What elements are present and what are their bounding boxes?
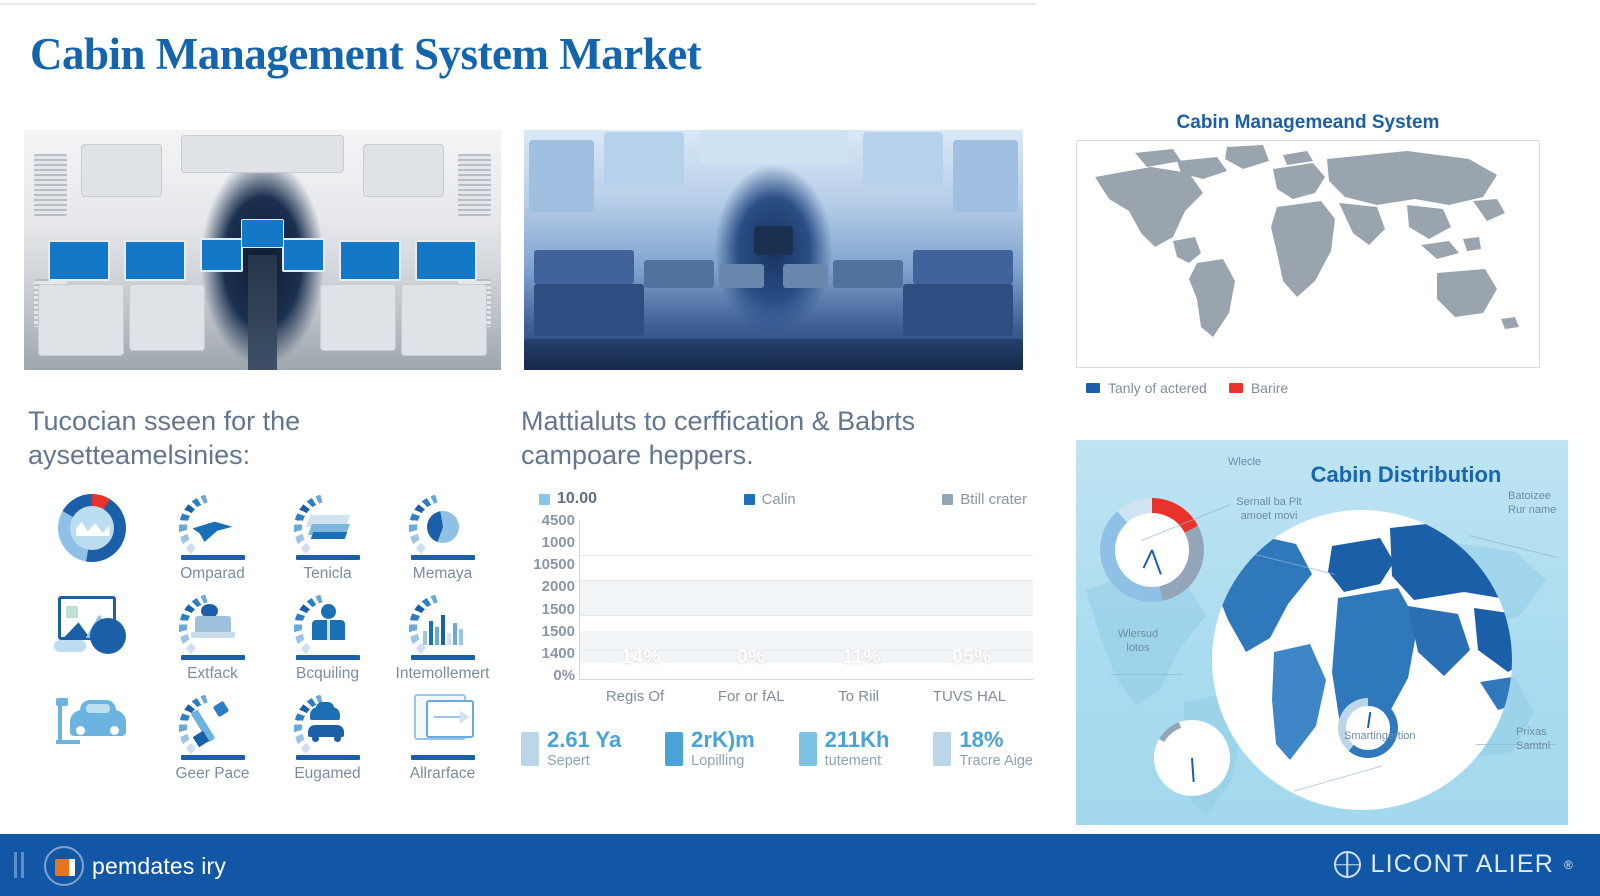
gauge-bars-icon [404, 592, 482, 654]
footer-bar: pemdates iry LICONT ALIER ® [0, 834, 1600, 896]
y-tick-0: 4500 [542, 512, 575, 529]
annotation-6: Prixas Samtnl [1516, 726, 1568, 754]
y-tick-3: 2000 [542, 578, 575, 595]
legend-swatch-2 [942, 494, 953, 505]
cabin-photo-left [24, 130, 501, 370]
bar-value-label-1: 0% [737, 647, 765, 669]
y-tick-7: 0% [553, 667, 575, 684]
stat-value-3: 18% [959, 727, 1003, 752]
y-tick-5: 1500 [542, 623, 575, 640]
feature-item-8[interactable] [40, 692, 155, 792]
feature-item-0[interactable] [40, 492, 155, 592]
feature-label-9: Geer Pace [175, 765, 249, 783]
image-frame-icon [52, 592, 144, 668]
feature-item-6[interactable]: Bcquiling [270, 592, 385, 692]
stat-value-0: 2.61 Ya [547, 727, 621, 752]
lede-left: Tucocian sseen for the aysetteamelsinies… [28, 404, 468, 473]
donut-gauge-inner [1338, 698, 1398, 758]
footer-stripe-icon [14, 852, 26, 878]
feature-underline-6 [296, 655, 360, 660]
bar-value-label-3: 05% [952, 647, 992, 669]
feature-label-5: Extfack [187, 665, 238, 683]
footer-left-brand-label: pemdates iry [92, 853, 226, 880]
feature-underline-11 [411, 755, 475, 760]
world-map-card [1076, 140, 1540, 368]
feature-icon-grid: Omparad Tenicla Memaya [40, 492, 500, 792]
footer-left-brand[interactable]: pemdates iry [44, 846, 226, 886]
feature-underline-9 [181, 755, 245, 760]
stat-item-0: 2.61 Ya Sepert [521, 728, 621, 770]
top-divider [0, 3, 1036, 5]
feature-label-10: Eugamed [294, 765, 360, 783]
tablet-screen-icon [404, 692, 482, 754]
world-map-icon [1077, 141, 1540, 368]
gauge-layers-icon [289, 492, 367, 554]
feature-label-2: Tenicla [303, 565, 351, 583]
stat-caption-2: tutement [825, 753, 881, 769]
feature-underline-10 [296, 755, 360, 760]
feature-label-11: Allrarface [410, 765, 475, 783]
stat-item-2: 211Kh tutement [799, 728, 890, 770]
legend-item-1[interactable]: Calin [744, 490, 796, 508]
feature-item-11[interactable]: Allrarface [385, 692, 500, 792]
feature-label-1: Omparad [180, 565, 245, 583]
y-tick-1: 1000 [542, 534, 575, 551]
x-tick-0: Regis Of [606, 688, 664, 705]
feature-item-9[interactable]: Geer Pace [155, 692, 270, 792]
stat-swatch-3 [933, 732, 951, 766]
cabin-distribution-card: Cabin Distribution Wlecle Sernall ba Plt… [1076, 440, 1568, 825]
stat-swatch-0 [521, 732, 539, 766]
map-legend-swatch-1 [1229, 383, 1243, 393]
chart-legend: 10.00 Calin Btill crater [521, 490, 1033, 508]
footer-right-brand-label: LICONT ALIER [1371, 850, 1554, 879]
map-legend: Tanly of actered Barire [1086, 380, 1288, 396]
chart-x-axis: Regis Of For or fAL To Riil TUVS HAL [579, 688, 1033, 705]
legend-label-0: 10.00 [557, 490, 597, 508]
cabin-photo-center [524, 130, 1023, 370]
registered-trademark-icon: ® [1564, 858, 1574, 872]
gauge-person-icon [289, 592, 367, 654]
donut-gauge-bottom [1154, 720, 1230, 796]
stat-caption-0: Sepert [547, 753, 590, 769]
gauge-cars-icon [289, 692, 367, 754]
stat-item-3: 18% Tracre Aige [933, 728, 1033, 770]
map-legend-item-0[interactable]: Tanly of actered [1086, 380, 1207, 396]
stat-swatch-1 [665, 732, 683, 766]
page-title: Cabin Management System Market [30, 28, 701, 80]
stat-swatch-2 [799, 732, 817, 766]
legend-item-2[interactable]: Btill crater [942, 490, 1027, 508]
chart-bar-groups: 14% 0% 11% 05% [586, 520, 1027, 679]
annotation-2: Sernall ba Plt amoet movi [1236, 496, 1302, 524]
annotation-1: Wlecle [1228, 456, 1261, 470]
feature-item-2[interactable]: Tenicla [270, 492, 385, 592]
stat-value-2: 211Kh [825, 727, 890, 752]
feature-label-3: Memaya [413, 565, 472, 583]
bar-value-label-2: 11% [842, 647, 880, 669]
gauge-wing-icon [174, 492, 252, 554]
feature-item-7[interactable]: Intemollemert [385, 592, 500, 692]
y-tick-6: 1400 [542, 645, 575, 662]
map-legend-label-1: Barire [1251, 380, 1288, 396]
map-legend-item-1[interactable]: Barire [1229, 380, 1288, 396]
legend-label-1: Calin [762, 491, 796, 508]
feature-label-6: Bcquiling [296, 665, 359, 683]
ev-charging-car-icon [52, 692, 144, 768]
stat-value-1: 2rK)m [691, 727, 755, 752]
gauge-wrench-icon [174, 692, 252, 754]
x-tick-3: TUVS HAL [933, 688, 1006, 705]
legend-label-2: Btill crater [960, 491, 1027, 508]
stat-caption-3: Tracre Aige [959, 753, 1033, 769]
feature-underline-3 [411, 555, 475, 560]
lede-right: Mattialuts to cerffication & Babrts camp… [521, 404, 981, 473]
feature-item-3[interactable]: Memaya [385, 492, 500, 592]
globe-icon [1334, 851, 1361, 878]
chart-axes: 14% 0% 11% 05% [579, 520, 1033, 680]
stat-item-1: 2rK)m Lopilling [665, 728, 755, 770]
legend-swatch-1 [744, 494, 755, 505]
annotation-4: Wlersud lotos [1108, 628, 1168, 656]
annotation-3: Batoizee Rur name [1508, 490, 1568, 518]
legend-swatch-0 [539, 494, 550, 505]
feature-item-5[interactable]: Extfack [155, 592, 270, 692]
y-tick-2: 10500 [533, 556, 575, 573]
bar-value-label-0: 14% [621, 647, 661, 669]
annotation-5: Smartingertion [1344, 730, 1416, 744]
donut-chart-icon [52, 492, 144, 568]
stat-caption-1: Lopilling [691, 753, 744, 769]
gauge-pie-icon [404, 492, 482, 554]
chart-plot-area: 4500 1000 10500 2000 1500 1500 1400 0% 1… [521, 520, 1033, 680]
feature-underline-2 [296, 555, 360, 560]
brand-logo-icon [44, 846, 84, 886]
feature-underline-7 [411, 655, 475, 660]
feature-item-4[interactable] [40, 592, 155, 692]
infographic-title: Cabin Distribution [1276, 462, 1536, 488]
map-card-title: Cabin Managemeand System [1078, 112, 1538, 134]
feature-underline-1 [181, 555, 245, 560]
footer-right-brand[interactable]: LICONT ALIER ® [1334, 850, 1575, 879]
chart-y-axis: 4500 1000 10500 2000 1500 1500 1400 0% [521, 512, 575, 684]
x-tick-2: To Riil [838, 688, 879, 705]
stat-row: 2.61 Ya Sepert 2rK)m Lopilling 211Kh tut… [521, 728, 1033, 770]
map-legend-swatch-0 [1086, 383, 1100, 393]
gauge-laptop-icon [174, 592, 252, 654]
feature-item-1[interactable]: Omparad [155, 492, 270, 592]
map-legend-label-0: Tanly of actered [1108, 380, 1207, 396]
legend-item-0[interactable]: 10.00 [539, 490, 597, 508]
feature-underline-5 [181, 655, 245, 660]
donut-gauge-top [1100, 498, 1204, 602]
y-tick-4: 1500 [542, 601, 575, 618]
feature-item-10[interactable]: Eugamed [270, 692, 385, 792]
feature-label-7: Intemollemert [396, 665, 490, 683]
x-tick-1: For or fAL [718, 688, 785, 705]
